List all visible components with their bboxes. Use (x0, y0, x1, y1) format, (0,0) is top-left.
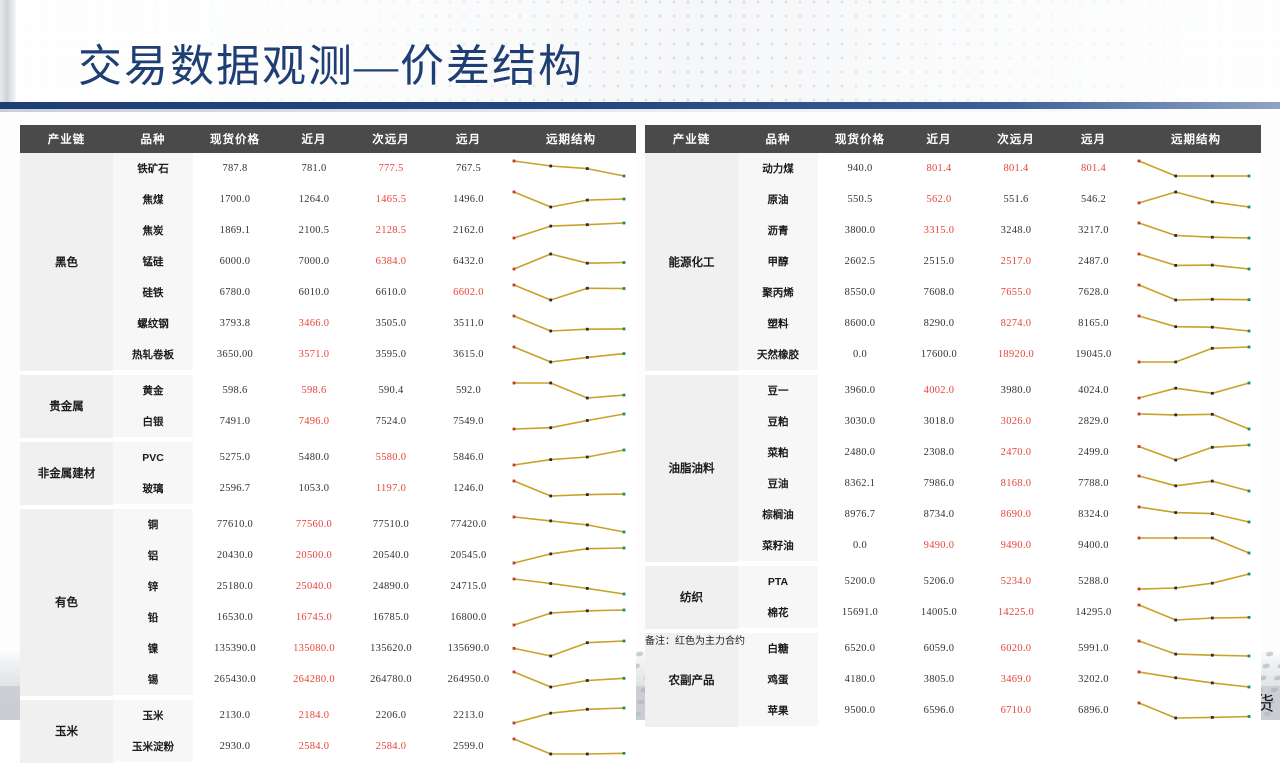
table-row: 黑色铁矿石787.8781.0777.5767.5 (20, 153, 636, 184)
variety-cell: 动力煤 (738, 153, 818, 184)
forward-curve-sparkline (506, 666, 632, 693)
price-structure-table-left: 产业链品种现货价格近月次远月远月远期结构 黑色铁矿石787.8781.0777.… (20, 125, 636, 764)
price-cell-spot: 8976.7 (818, 499, 902, 530)
price-cell-mid: 8274.0 (976, 308, 1056, 339)
table-row: 油脂油料豆一3960.04002.03980.04024.0 (645, 375, 1261, 406)
price-cell-far: 7628.0 (1056, 277, 1131, 308)
price-cell-far: 6432.0 (431, 246, 506, 277)
price-cell-near: 2184.0 (277, 700, 351, 731)
price-cell-mid: 264780.0 (351, 664, 431, 696)
price-cell-far: 7788.0 (1056, 468, 1131, 499)
price-cell-mid: 20540.0 (351, 540, 431, 571)
industry-chain-cell: 油脂油料 (645, 375, 738, 562)
price-cell-spot: 16530.0 (193, 602, 277, 633)
price-cell-spot: 2596.7 (193, 473, 277, 505)
price-cell-mid: 2584.0 (351, 731, 431, 763)
price-cell-spot: 3960.0 (818, 375, 902, 406)
table-row: 有色铜77610.077560.077510.077420.0 (20, 509, 636, 540)
table-row: 玉米淀粉2930.02584.02584.02599.0 (20, 731, 636, 763)
price-cell-far: 14295.0 (1056, 597, 1131, 629)
forward-structure-cell (1131, 153, 1261, 184)
price-cell-near: 16745.0 (277, 602, 351, 633)
industry-chain-cell: 玉米 (20, 700, 113, 763)
column-header-2: 现货价格 (193, 125, 277, 153)
forward-curve-sparkline (506, 511, 632, 538)
price-cell-near: 1053.0 (277, 473, 351, 505)
price-cell-far: 264950.0 (431, 664, 506, 696)
price-cell-far: 5846.0 (431, 442, 506, 473)
price-cell-far: 546.2 (1056, 184, 1131, 215)
variety-cell: 聚丙烯 (738, 277, 818, 308)
price-cell-near: 264280.0 (277, 664, 351, 696)
price-cell-near: 77560.0 (277, 509, 351, 540)
price-cell-mid: 2517.0 (976, 246, 1056, 277)
table-row: 白银7491.07496.07524.07549.0 (20, 406, 636, 438)
forward-structure-cell (1131, 499, 1261, 530)
price-cell-mid: 18920.0 (976, 339, 1056, 371)
forward-curve-sparkline (1131, 155, 1257, 182)
forward-structure-cell (506, 473, 636, 505)
price-cell-spot: 787.8 (193, 153, 277, 184)
price-cell-near: 3571.0 (277, 339, 351, 371)
column-header-6: 远期结构 (506, 125, 636, 153)
title-divider-bar (0, 102, 1280, 109)
variety-cell: 白糖 (738, 633, 818, 664)
price-cell-far: 5991.0 (1056, 633, 1131, 664)
price-cell-mid: 7524.0 (351, 406, 431, 438)
variety-cell: 镍 (113, 633, 193, 664)
price-cell-spot: 8362.1 (818, 468, 902, 499)
table-row: 塑料8600.08290.08274.08165.0 (645, 308, 1261, 339)
table-row: 棉花15691.014005.014225.014295.0 (645, 597, 1261, 629)
forward-structure-cell (506, 406, 636, 438)
forward-structure-cell (506, 664, 636, 696)
forward-structure-cell (506, 731, 636, 763)
industry-chain-cell: 纺织 (645, 566, 738, 629)
price-cell-mid: 1465.5 (351, 184, 431, 215)
price-cell-spot: 3800.0 (818, 215, 902, 246)
price-cell-near: 2308.0 (902, 437, 976, 468)
column-header-1: 品种 (113, 125, 193, 153)
variety-cell: 铅 (113, 602, 193, 633)
forward-structure-cell (1131, 375, 1261, 406)
forward-structure-cell (506, 184, 636, 215)
price-cell-spot: 20430.0 (193, 540, 277, 571)
variety-cell: 玻璃 (113, 473, 193, 505)
forward-curve-sparkline (506, 279, 632, 306)
price-cell-spot: 2930.0 (193, 731, 277, 763)
price-cell-near: 6010.0 (277, 277, 351, 308)
price-cell-near: 7608.0 (902, 277, 976, 308)
forward-curve-sparkline (1131, 568, 1257, 595)
variety-cell: 豆粕 (738, 406, 818, 437)
price-cell-mid: 590.4 (351, 375, 431, 406)
forward-structure-cell (1131, 633, 1261, 664)
price-cell-far: 2499.0 (1056, 437, 1131, 468)
price-cell-spot: 7491.0 (193, 406, 277, 438)
variety-cell: 塑料 (738, 308, 818, 339)
price-cell-mid: 14225.0 (976, 597, 1056, 629)
price-cell-far: 6896.0 (1056, 695, 1131, 727)
forward-curve-sparkline (506, 248, 632, 275)
price-cell-spot: 2480.0 (818, 437, 902, 468)
table-row: 菜粕2480.02308.02470.02499.0 (645, 437, 1261, 468)
price-cell-spot: 77610.0 (193, 509, 277, 540)
forward-curve-sparkline (1131, 599, 1257, 626)
price-cell-mid: 2206.0 (351, 700, 431, 731)
forward-structure-cell (1131, 597, 1261, 629)
table-row: 玻璃2596.71053.01197.01246.0 (20, 473, 636, 505)
price-cell-far: 8165.0 (1056, 308, 1131, 339)
price-cell-mid: 8690.0 (976, 499, 1056, 530)
price-cell-spot: 15691.0 (818, 597, 902, 629)
price-cell-far: 6602.0 (431, 277, 506, 308)
table-row: 锡265430.0264280.0264780.0264950.0 (20, 664, 636, 696)
price-cell-far: 2162.0 (431, 215, 506, 246)
price-cell-spot: 550.5 (818, 184, 902, 215)
forward-curve-sparkline (506, 733, 632, 760)
variety-cell: 白银 (113, 406, 193, 438)
forward-curve-sparkline (1131, 501, 1257, 528)
table-row: 苹果9500.06596.06710.06896.0 (645, 695, 1261, 727)
industry-chain-cell: 黑色 (20, 153, 113, 371)
price-cell-spot: 6000.0 (193, 246, 277, 277)
column-header-0: 产业链 (645, 125, 738, 153)
forward-structure-cell (1131, 339, 1261, 371)
price-cell-near: 781.0 (277, 153, 351, 184)
price-cell-near: 8290.0 (902, 308, 976, 339)
price-cell-mid: 6020.0 (976, 633, 1056, 664)
price-cell-far: 4024.0 (1056, 375, 1131, 406)
variety-cell: 铝 (113, 540, 193, 571)
price-cell-spot: 940.0 (818, 153, 902, 184)
table-row: 菜籽油0.09490.09490.09400.0 (645, 530, 1261, 562)
variety-cell: 甲醇 (738, 246, 818, 277)
variety-cell: 天然橡胶 (738, 339, 818, 371)
column-header-6: 远期结构 (1131, 125, 1261, 153)
forward-structure-cell (506, 277, 636, 308)
price-cell-mid: 777.5 (351, 153, 431, 184)
forward-structure-cell (506, 246, 636, 277)
price-cell-spot: 6780.0 (193, 277, 277, 308)
price-cell-spot: 5275.0 (193, 442, 277, 473)
price-cell-far: 3615.0 (431, 339, 506, 371)
price-cell-mid: 3980.0 (976, 375, 1056, 406)
price-cell-mid: 3595.0 (351, 339, 431, 371)
forward-curve-sparkline (1131, 310, 1257, 337)
price-cell-far: 2213.0 (431, 700, 506, 731)
price-cell-near: 598.6 (277, 375, 351, 406)
table-left-body: 黑色铁矿石787.8781.0777.5767.5 焦煤1700.01264.0… (20, 153, 636, 763)
table-row: 甲醇2602.52515.02517.02487.0 (645, 246, 1261, 277)
price-cell-near: 5480.0 (277, 442, 351, 473)
variety-cell: PTA (738, 566, 818, 597)
price-cell-mid: 77510.0 (351, 509, 431, 540)
forward-structure-cell (1131, 664, 1261, 695)
price-cell-far: 2487.0 (1056, 246, 1131, 277)
variety-cell: 锡 (113, 664, 193, 696)
price-cell-spot: 0.0 (818, 339, 902, 371)
variety-cell: 铜 (113, 509, 193, 540)
table-row: 焦炭1869.12100.52128.52162.0 (20, 215, 636, 246)
forward-curve-sparkline (1131, 248, 1257, 275)
price-cell-far: 9400.0 (1056, 530, 1131, 562)
table-row: 铅16530.016745.016785.016800.0 (20, 602, 636, 633)
price-cell-mid: 2470.0 (976, 437, 1056, 468)
price-cell-spot: 8600.0 (818, 308, 902, 339)
forward-curve-sparkline (1131, 470, 1257, 497)
variety-cell: 焦煤 (113, 184, 193, 215)
price-cell-mid: 801.4 (976, 153, 1056, 184)
price-cell-spot: 6520.0 (818, 633, 902, 664)
variety-cell: 菜粕 (738, 437, 818, 468)
forward-curve-sparkline (506, 444, 632, 471)
forward-curve-sparkline (506, 542, 632, 569)
table-header-row: 产业链品种现货价格近月次远月远月远期结构 (20, 125, 636, 153)
price-cell-spot: 265430.0 (193, 664, 277, 696)
forward-structure-cell (1131, 184, 1261, 215)
price-cell-spot: 2130.0 (193, 700, 277, 731)
variety-cell: 棕榈油 (738, 499, 818, 530)
price-cell-far: 767.5 (431, 153, 506, 184)
price-cell-mid: 551.6 (976, 184, 1056, 215)
price-cell-mid: 6610.0 (351, 277, 431, 308)
forward-structure-cell (506, 215, 636, 246)
price-cell-near: 25040.0 (277, 571, 351, 602)
variety-cell: 硅铁 (113, 277, 193, 308)
table-row: 能源化工动力煤940.0801.4801.4801.4 (645, 153, 1261, 184)
price-cell-near: 2100.5 (277, 215, 351, 246)
table-row: 锌25180.025040.024890.024715.0 (20, 571, 636, 602)
price-cell-spot: 3793.8 (193, 308, 277, 339)
price-cell-mid: 3469.0 (976, 664, 1056, 695)
variety-cell: 热轧卷板 (113, 339, 193, 371)
forward-curve-sparkline (1131, 408, 1257, 435)
table-row: 鸡蛋4180.03805.03469.03202.0 (645, 664, 1261, 695)
forward-curve-sparkline (506, 408, 632, 435)
price-cell-far: 16800.0 (431, 602, 506, 633)
forward-curve-sparkline (1131, 217, 1257, 244)
price-cell-near: 562.0 (902, 184, 976, 215)
price-cell-near: 7000.0 (277, 246, 351, 277)
price-cell-spot: 3030.0 (818, 406, 902, 437)
price-cell-far: 19045.0 (1056, 339, 1131, 371)
variety-cell: 豆油 (738, 468, 818, 499)
price-cell-mid: 3505.0 (351, 308, 431, 339)
forward-structure-cell (1131, 566, 1261, 597)
table-note: 备注：红色为主力合约 (645, 632, 745, 647)
price-cell-mid: 135620.0 (351, 633, 431, 664)
price-cell-far: 1246.0 (431, 473, 506, 505)
table-row: 焦煤1700.01264.01465.51496.0 (20, 184, 636, 215)
variety-cell: 铁矿石 (113, 153, 193, 184)
price-cell-far: 7549.0 (431, 406, 506, 438)
variety-cell: 螺纹钢 (113, 308, 193, 339)
price-cell-mid: 5580.0 (351, 442, 431, 473)
forward-structure-cell (506, 308, 636, 339)
forward-structure-cell (1131, 277, 1261, 308)
price-cell-mid: 16785.0 (351, 602, 431, 633)
table-row: 螺纹钢3793.83466.03505.03511.0 (20, 308, 636, 339)
forward-curve-sparkline (506, 217, 632, 244)
price-cell-mid: 7655.0 (976, 277, 1056, 308)
variety-cell: 玉米淀粉 (113, 731, 193, 763)
price-cell-near: 8734.0 (902, 499, 976, 530)
price-cell-near: 20500.0 (277, 540, 351, 571)
table-row: 天然橡胶0.017600.018920.019045.0 (645, 339, 1261, 371)
price-cell-near: 801.4 (902, 153, 976, 184)
forward-curve-sparkline (506, 475, 632, 502)
price-cell-spot: 2602.5 (818, 246, 902, 277)
price-cell-spot: 9500.0 (818, 695, 902, 727)
price-cell-spot: 25180.0 (193, 571, 277, 602)
table-row: 棕榈油8976.78734.08690.08324.0 (645, 499, 1261, 530)
price-cell-far: 2829.0 (1056, 406, 1131, 437)
price-cell-near: 2584.0 (277, 731, 351, 763)
forward-structure-cell (1131, 246, 1261, 277)
header-left-edge-accent (0, 0, 16, 108)
forward-structure-cell (1131, 308, 1261, 339)
price-cell-spot: 1700.0 (193, 184, 277, 215)
industry-chain-cell: 有色 (20, 509, 113, 696)
forward-structure-cell (506, 540, 636, 571)
price-cell-far: 8324.0 (1056, 499, 1131, 530)
table-row: 原油550.5562.0551.6546.2 (645, 184, 1261, 215)
forward-curve-sparkline (506, 635, 632, 662)
forward-structure-cell (506, 700, 636, 731)
forward-curve-sparkline (506, 604, 632, 631)
forward-curve-sparkline (1131, 186, 1257, 213)
variety-cell: 锰硅 (113, 246, 193, 277)
column-header-4: 次远月 (351, 125, 431, 153)
price-cell-near: 7496.0 (277, 406, 351, 438)
price-cell-near: 6059.0 (902, 633, 976, 664)
table-row: 热轧卷板3650.003571.03595.03615.0 (20, 339, 636, 371)
price-cell-near: 4002.0 (902, 375, 976, 406)
price-cell-mid: 2128.5 (351, 215, 431, 246)
price-cell-mid: 6710.0 (976, 695, 1056, 727)
table-row: 沥青3800.03315.03248.03217.0 (645, 215, 1261, 246)
price-cell-near: 9490.0 (902, 530, 976, 562)
forward-curve-sparkline (1131, 341, 1257, 368)
table-row: 贵金属黄金598.6598.6590.4592.0 (20, 375, 636, 406)
table-row: 镍135390.0135080.0135620.0135690.0 (20, 633, 636, 664)
price-cell-spot: 0.0 (818, 530, 902, 562)
price-cell-mid: 24890.0 (351, 571, 431, 602)
forward-structure-cell (1131, 468, 1261, 499)
price-cell-mid: 9490.0 (976, 530, 1056, 562)
forward-curve-sparkline (1131, 666, 1257, 693)
table-row: 豆粕3030.03018.03026.02829.0 (645, 406, 1261, 437)
variety-cell: 菜籽油 (738, 530, 818, 562)
industry-chain-cell: 非金属建材 (20, 442, 113, 505)
price-cell-near: 3315.0 (902, 215, 976, 246)
price-cell-far: 801.4 (1056, 153, 1131, 184)
price-cell-mid: 3026.0 (976, 406, 1056, 437)
price-cell-far: 3217.0 (1056, 215, 1131, 246)
forward-structure-cell (1131, 437, 1261, 468)
forward-curve-sparkline (506, 310, 632, 337)
industry-chain-cell: 能源化工 (645, 153, 738, 371)
forward-curve-sparkline (506, 377, 632, 404)
price-cell-far: 24715.0 (431, 571, 506, 602)
forward-curve-sparkline (1131, 377, 1257, 404)
column-header-5: 远月 (431, 125, 506, 153)
forward-structure-cell (506, 571, 636, 602)
price-cell-near: 17600.0 (902, 339, 976, 371)
variety-cell: 玉米 (113, 700, 193, 731)
variety-cell: 鸡蛋 (738, 664, 818, 695)
price-cell-spot: 4180.0 (818, 664, 902, 695)
forward-curve-sparkline (506, 186, 632, 213)
variety-cell: 锌 (113, 571, 193, 602)
column-header-2: 现货价格 (818, 125, 902, 153)
price-cell-mid: 6384.0 (351, 246, 431, 277)
forward-curve-sparkline (1131, 279, 1257, 306)
forward-structure-cell (1131, 406, 1261, 437)
price-cell-far: 3511.0 (431, 308, 506, 339)
column-header-0: 产业链 (20, 125, 113, 153)
price-cell-spot: 598.6 (193, 375, 277, 406)
forward-structure-cell (506, 509, 636, 540)
price-cell-near: 135080.0 (277, 633, 351, 664)
forward-structure-cell (506, 633, 636, 664)
variety-cell: 苹果 (738, 695, 818, 727)
variety-cell: 沥青 (738, 215, 818, 246)
column-header-4: 次远月 (976, 125, 1056, 153)
price-cell-far: 3202.0 (1056, 664, 1131, 695)
table-row: 纺织PTA5200.05206.05234.05288.0 (645, 566, 1261, 597)
industry-chain-cell: 农副产品 (645, 633, 738, 727)
table-row: 非金属建材PVC5275.05480.05580.05846.0 (20, 442, 636, 473)
table-row: 锰硅6000.07000.06384.06432.0 (20, 246, 636, 277)
price-cell-mid: 1197.0 (351, 473, 431, 505)
variety-cell: PVC (113, 442, 193, 473)
variety-cell: 豆一 (738, 375, 818, 406)
price-cell-near: 3018.0 (902, 406, 976, 437)
variety-cell: 原油 (738, 184, 818, 215)
variety-cell: 黄金 (113, 375, 193, 406)
price-cell-spot: 8550.0 (818, 277, 902, 308)
price-cell-far: 592.0 (431, 375, 506, 406)
forward-structure-cell (506, 339, 636, 371)
price-cell-far: 77420.0 (431, 509, 506, 540)
price-cell-mid: 8168.0 (976, 468, 1056, 499)
forward-curve-sparkline (506, 573, 632, 600)
price-cell-far: 2599.0 (431, 731, 506, 763)
column-header-5: 远月 (1056, 125, 1131, 153)
price-cell-near: 14005.0 (902, 597, 976, 629)
forward-structure-cell (506, 442, 636, 473)
price-cell-spot: 3650.00 (193, 339, 277, 371)
table-row: 硅铁6780.06010.06610.06602.0 (20, 277, 636, 308)
price-cell-mid: 3248.0 (976, 215, 1056, 246)
table-row: 玉米玉米2130.02184.02206.02213.0 (20, 700, 636, 731)
variety-cell: 焦炭 (113, 215, 193, 246)
price-cell-far: 20545.0 (431, 540, 506, 571)
price-cell-near: 1264.0 (277, 184, 351, 215)
forward-curve-sparkline (506, 341, 632, 368)
price-cell-far: 1496.0 (431, 184, 506, 215)
price-cell-spot: 135390.0 (193, 633, 277, 664)
forward-structure-cell (1131, 695, 1261, 727)
forward-curve-sparkline (1131, 635, 1257, 662)
forward-structure-cell (506, 375, 636, 406)
price-cell-far: 135690.0 (431, 633, 506, 664)
forward-structure-cell (1131, 215, 1261, 246)
column-header-3: 近月 (902, 125, 976, 153)
table-left: 产业链品种现货价格近月次远月远月远期结构 黑色铁矿石787.8781.0777.… (20, 125, 636, 764)
